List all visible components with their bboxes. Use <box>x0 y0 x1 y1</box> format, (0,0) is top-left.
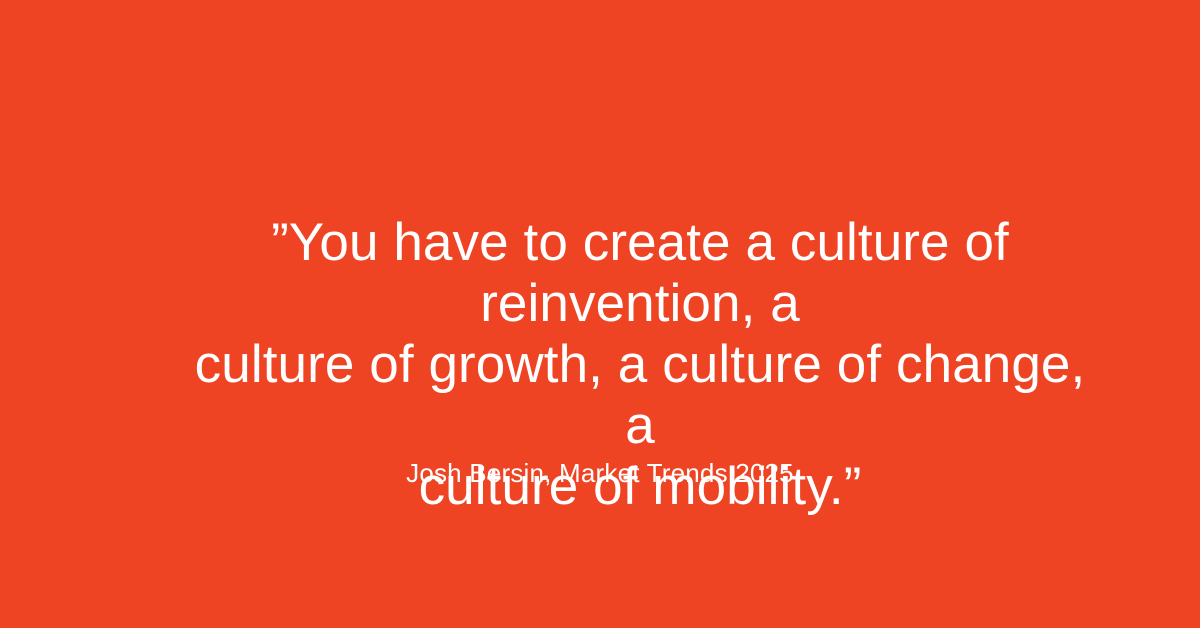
opening-quote-mark: ” <box>271 213 289 272</box>
quote-attribution: Josh Bersin, Market Trends 2025 <box>150 457 1050 489</box>
quote-line-2: culture of growth, a culture of change, … <box>180 334 1100 456</box>
quote-line-1: ”You have to create a culture of reinven… <box>180 212 1100 334</box>
quote-card: ”You have to create a culture of reinven… <box>0 0 1200 628</box>
quote-line-1-text: You have to create a culture of reinvent… <box>289 213 1009 333</box>
